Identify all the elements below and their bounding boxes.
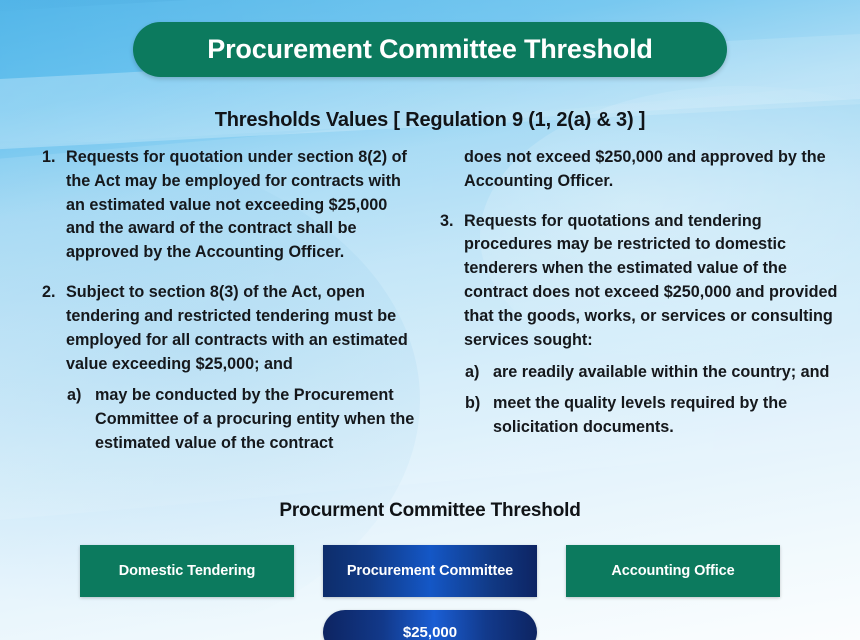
body-columns: 1. Requests for quotation under section … <box>0 146 860 486</box>
list-item-sub: b) meet the quality levels required by t… <box>465 392 842 440</box>
diagram-amount-pill[interactable]: $25,000 <box>323 610 537 640</box>
list-marker: 3. <box>440 210 464 234</box>
list-item-text: may be conducted by the Procurement Comm… <box>95 384 416 455</box>
diagram-box-domestic-tendering[interactable]: Domestic Tendering <box>80 545 294 597</box>
list-item-text: Requests for quotations and tendering pr… <box>464 210 842 353</box>
list-item-continuation: does not exceed $250,000 and approved by… <box>464 146 842 194</box>
diagram-box-row: Domestic Tendering Procurement Committee… <box>0 545 860 597</box>
list-item-text: Requests for quotation under section 8(2… <box>66 146 416 265</box>
list-item-text: does not exceed $250,000 and approved by… <box>464 146 842 194</box>
diagram-box-label: Accounting Office <box>611 563 734 579</box>
list-item: 3. Requests for quotations and tendering… <box>440 210 842 353</box>
left-column: 1. Requests for quotation under section … <box>0 146 430 486</box>
diagram-box-label: Domestic Tendering <box>119 563 256 579</box>
diagram-amount-label: $25,000 <box>403 624 457 640</box>
diagram-title: Procurment Committee Threshold <box>0 500 860 522</box>
diagram-box-accounting-office[interactable]: Accounting Office <box>566 545 780 597</box>
slide-subtitle: Thresholds Values [ Regulation 9 (1, 2(a… <box>0 109 860 132</box>
list-item-text: are readily available within the country… <box>493 361 842 385</box>
diagram-box-label: Procurement Committee <box>347 563 513 579</box>
list-item: 2. Subject to section 8(3) of the Act, o… <box>42 281 416 376</box>
slide-title-pill: Procurement Committee Threshold <box>133 22 727 77</box>
list-marker: 2. <box>42 281 66 305</box>
list-marker: b) <box>465 392 493 416</box>
list-item: 1. Requests for quotation under section … <box>42 146 416 265</box>
list-marker: a) <box>465 361 493 385</box>
slide-canvas: Procurement Committee Threshold Threshol… <box>0 0 860 640</box>
right-column: does not exceed $250,000 and approved by… <box>430 146 860 486</box>
list-item-sub: a) are readily available within the coun… <box>465 361 842 385</box>
page-title: Procurement Committee Threshold <box>207 34 652 65</box>
list-marker: a) <box>67 384 95 408</box>
list-item-text: meet the quality levels required by the … <box>493 392 842 440</box>
list-marker: 1. <box>42 146 66 170</box>
background-band-stripe <box>0 0 860 15</box>
list-item-sub: a) may be conducted by the Procurement C… <box>67 384 416 455</box>
list-item-text: Subject to section 8(3) of the Act, open… <box>66 281 416 376</box>
diagram-box-procurement-committee[interactable]: Procurement Committee <box>323 545 537 597</box>
